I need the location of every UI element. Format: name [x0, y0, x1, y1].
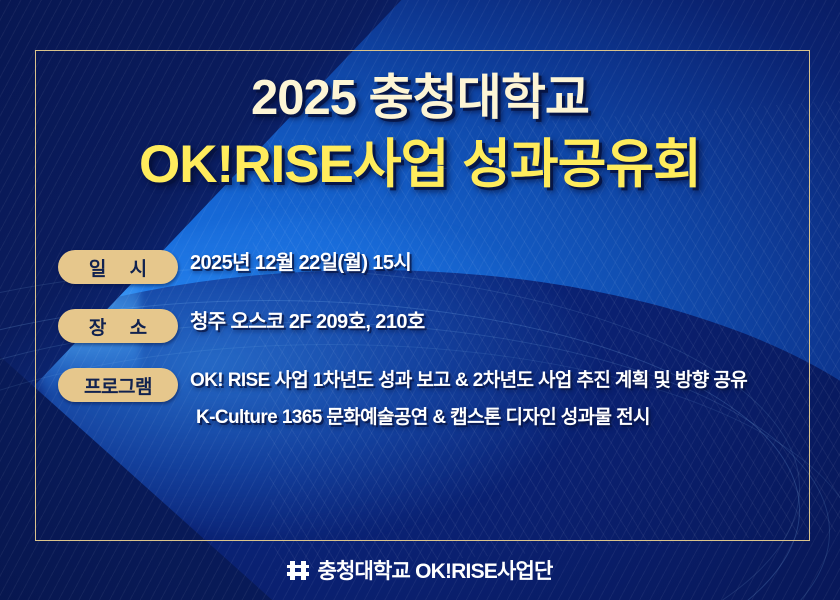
detail-values-location: 청주 오스코 2F 209호, 210호	[190, 309, 425, 332]
value-location: 청주 오스코 2F 209호, 210호	[190, 312, 425, 332]
page-title: 2025 충청대학교 OK!RISE사업 성과공유회	[0, 74, 840, 191]
label-pill-location: 장 소	[58, 309, 178, 343]
detail-row-datetime: 일 시 2025년 12월 22일(월) 15시	[58, 250, 810, 284]
event-details: 일 시 2025년 12월 22일(월) 15시 장 소 청주 오스코 2F 2…	[58, 250, 810, 427]
detail-values-program: OK! RISE 사업 1차년도 성과 보고 & 2차년도 사업 추진 계획 및…	[190, 368, 747, 427]
value-datetime: 2025년 12월 22일(월) 15시	[190, 253, 411, 273]
value-program-line-2: K-Culture 1365 문화예술공연 & 캡스톤 디자인 성과물 전시	[190, 408, 747, 427]
detail-values-datetime: 2025년 12월 22일(월) 15시	[190, 250, 411, 273]
title-line-1: 2025 충청대학교	[0, 74, 840, 123]
detail-row-program: 프로그램 OK! RISE 사업 1차년도 성과 보고 & 2차년도 사업 추진…	[58, 368, 810, 427]
footer-organization-name: 충청대학교 OK!RISE사업단	[317, 555, 552, 585]
value-program-line-1: OK! RISE 사업 1차년도 성과 보고 & 2차년도 사업 추진 계획 및…	[190, 371, 747, 390]
footer-branding: 충청대학교 OK!RISE사업단	[0, 555, 840, 585]
event-poster: 2025 충청대학교 OK!RISE사업 성과공유회 일 시 2025년 12월…	[0, 0, 840, 600]
okrise-logo-mark-icon	[287, 561, 309, 580]
title-line-2: OK!RISE사업 성과공유회	[0, 138, 840, 191]
detail-row-location: 장 소 청주 오스코 2F 209호, 210호	[58, 309, 810, 343]
label-pill-program: 프로그램	[58, 368, 178, 402]
label-pill-datetime: 일 시	[58, 250, 178, 284]
